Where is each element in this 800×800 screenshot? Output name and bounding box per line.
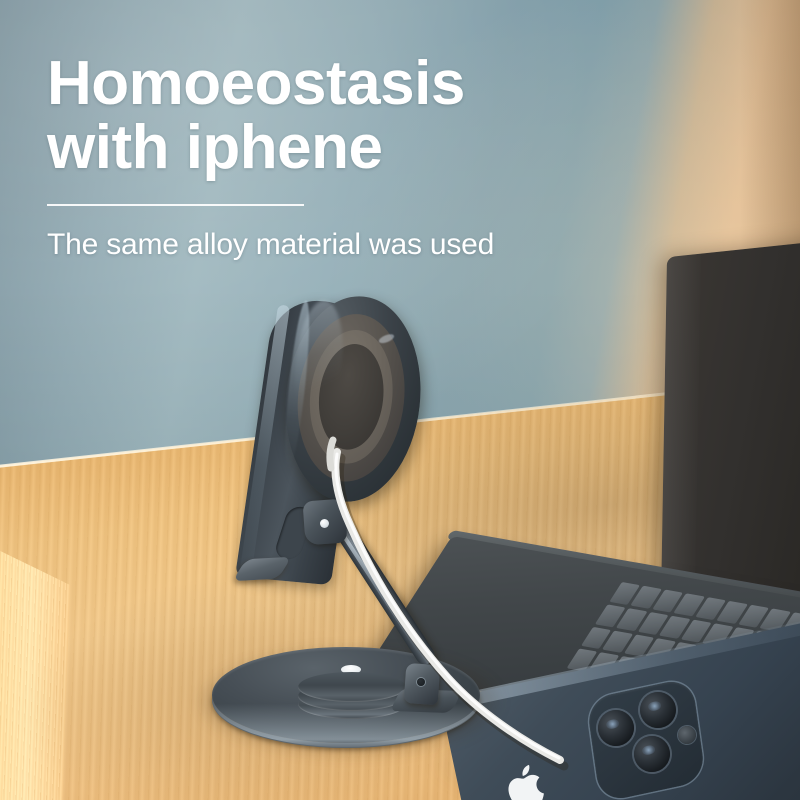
magnetic-charger-head bbox=[276, 290, 431, 509]
hinge-pin-icon bbox=[417, 678, 425, 686]
product-banner-scene: Homoeostasis with iphene The same alloy … bbox=[0, 0, 800, 800]
page-title: Homoeostasis with iphene bbox=[47, 52, 607, 180]
marketing-text-block: Homoeostasis with iphene The same alloy … bbox=[47, 52, 607, 262]
page-subtitle: The same alloy material was used bbox=[47, 228, 607, 262]
hinge-pin-icon bbox=[320, 519, 329, 528]
title-divider bbox=[47, 204, 304, 206]
puck-layer bbox=[298, 672, 406, 702]
stand-rotating-puck bbox=[298, 672, 406, 712]
